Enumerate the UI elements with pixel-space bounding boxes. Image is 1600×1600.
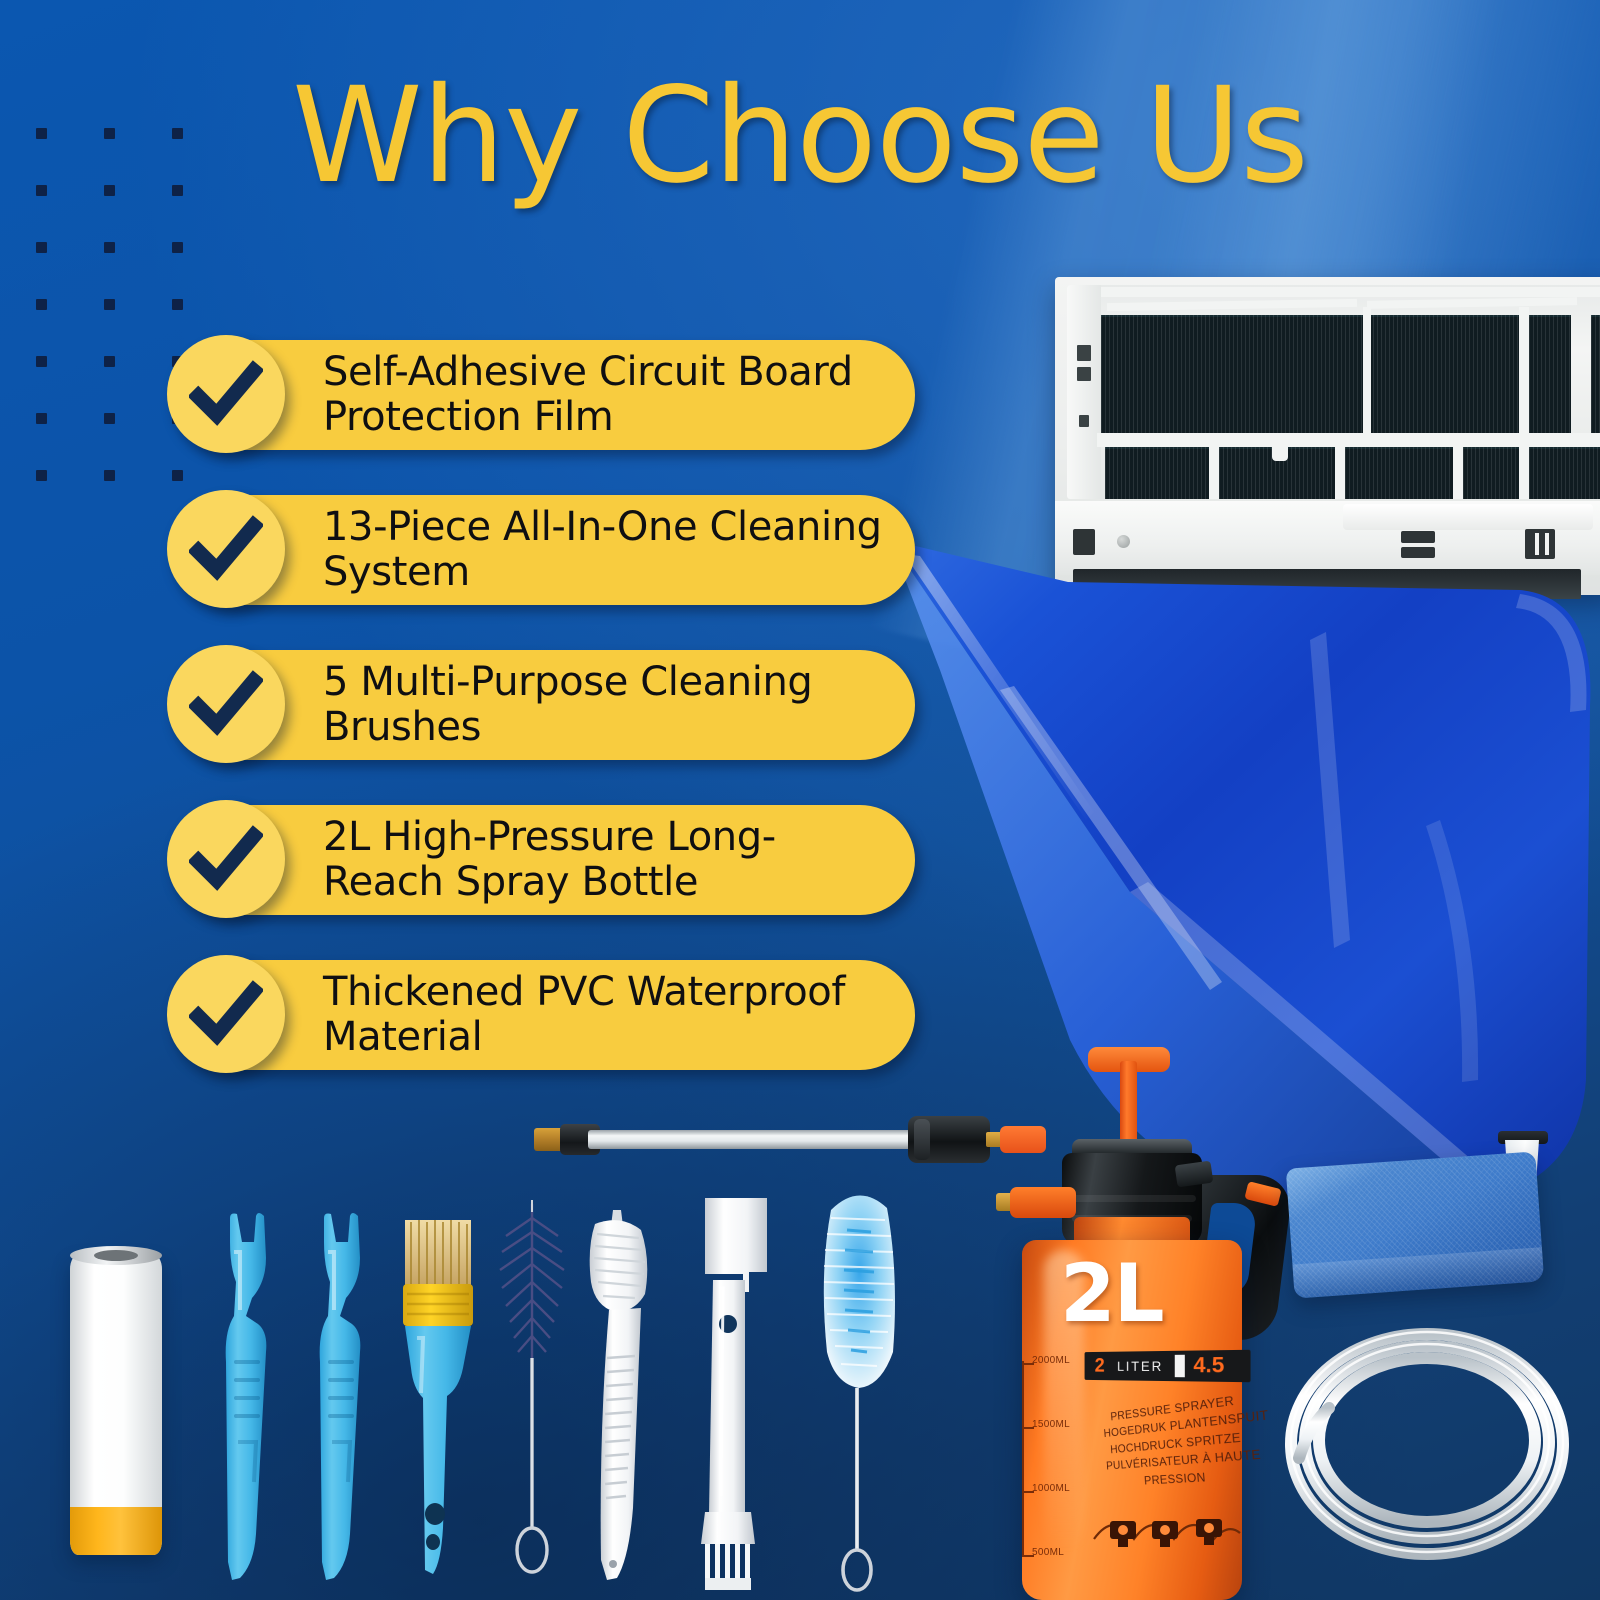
fin-comb-blade <box>675 1196 785 1596</box>
feature-item-3: 5 Multi-Purpose Cleaning Brushes <box>175 650 915 760</box>
fin-fork-tool-2 <box>290 1212 400 1582</box>
badge-unit: LITER <box>1117 1358 1163 1374</box>
feature-label: 5 Multi-Purpose Cleaning Brushes <box>323 660 889 750</box>
feature-label: 13-Piece All-In-One Cleaning System <box>323 505 889 595</box>
measure-label: 2000ML <box>1032 1355 1070 1366</box>
feature-label: Thickened PVC Waterproof Material <box>323 970 889 1060</box>
protection-film-roll <box>70 1255 162 1555</box>
detail-toothbrush <box>565 1208 675 1590</box>
infographic-canvas: Why Choose Us <box>0 0 1600 1600</box>
sprayer-warning-icons <box>1092 1505 1242 1551</box>
badge-pressure: 4.5 <box>1193 1353 1224 1378</box>
spray-wand <box>518 1110 1038 1170</box>
badge-separator <box>1175 1355 1185 1378</box>
feature-item-2: 13-Piece All-In-One Cleaning System <box>175 495 915 605</box>
pipe-cleaning-brush <box>492 1198 572 1588</box>
bristle-brush <box>385 1218 495 1578</box>
feature-label: 2L High-Pressure Long-Reach Spray Bottle <box>323 815 889 905</box>
bottle-brush <box>805 1184 915 1594</box>
check-icon <box>167 335 285 453</box>
check-icon <box>167 955 285 1073</box>
pressure-sprayer-bottle: 2L 2 LITER 4.5 2000ML1500ML1000ML500ML P… <box>1000 1035 1300 1600</box>
page-title: Why Choose Us <box>0 70 1600 202</box>
drain-hose <box>1275 1320 1575 1570</box>
measure-label: 1500ML <box>1032 1419 1070 1430</box>
sprayer-outlet <box>1010 1187 1076 1218</box>
feature-list: Self-Adhesive Circuit Board Protection F… <box>175 340 915 1115</box>
feature-item-5: Thickened PVC Waterproof Material <box>175 960 915 1070</box>
check-icon <box>167 490 285 608</box>
microfiber-cloth <box>1286 1151 1544 1298</box>
check-icon <box>167 800 285 918</box>
sprayer-volume-label: 2L <box>1060 1247 1163 1340</box>
sprayer-spec-badge: 2 LITER 4.5 <box>1085 1350 1251 1383</box>
check-icon <box>167 645 285 763</box>
feature-label: Self-Adhesive Circuit Board Protection F… <box>323 350 889 440</box>
feature-item-4: 2L High-Pressure Long-Reach Spray Bottle <box>175 805 915 915</box>
feature-item-1: Self-Adhesive Circuit Board Protection F… <box>175 340 915 450</box>
sprayer-measure-scale: 2000ML1500ML1000ML500ML <box>1032 1355 1090 1565</box>
measure-label: 1000ML <box>1032 1483 1070 1494</box>
badge-volume: 2 <box>1095 1355 1105 1378</box>
measure-label: 500ML <box>1032 1547 1064 1558</box>
